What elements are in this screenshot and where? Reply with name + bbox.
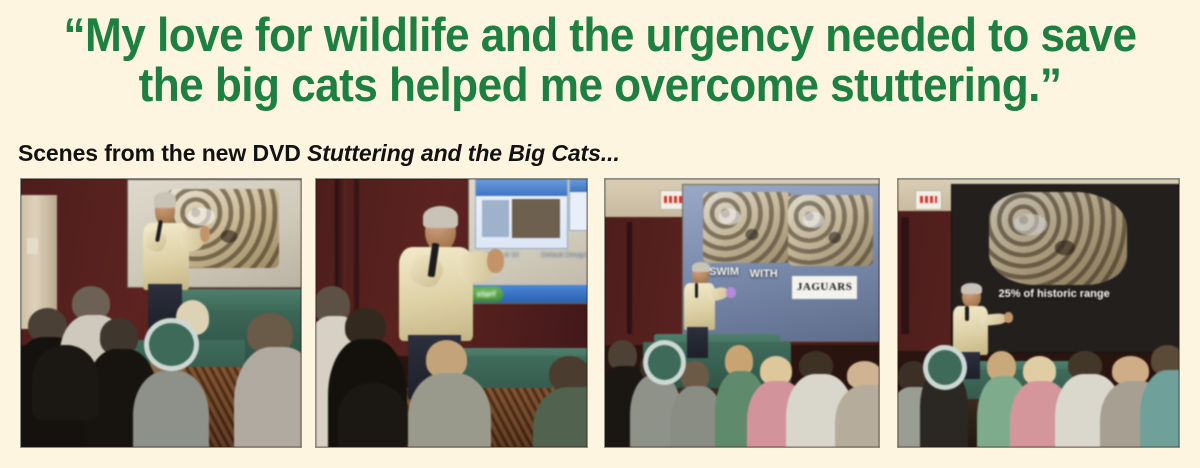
audience-body bbox=[1140, 370, 1179, 447]
photo-2[interactable]: Slide 11 of 33 Default Design start bbox=[315, 178, 588, 448]
speaker-hand-right bbox=[726, 287, 736, 299]
wall-fixture bbox=[27, 238, 38, 254]
photo-4-scene: 25% of historic range bbox=[898, 179, 1179, 447]
audience-member bbox=[408, 340, 489, 447]
audience-member bbox=[1140, 345, 1179, 447]
speaker-hand-right bbox=[200, 226, 210, 243]
exit-sign bbox=[915, 190, 942, 211]
audience-body bbox=[408, 373, 491, 447]
subtitle: Scenes from the new DVD Stuttering and t… bbox=[18, 140, 620, 166]
audience-body bbox=[533, 387, 587, 447]
page-title: “My love for wildlife and the urgency ne… bbox=[36, 10, 1164, 110]
subtitle-lead: Scenes from the new DVD bbox=[18, 140, 307, 166]
speaker-hand-right bbox=[487, 249, 504, 273]
speaker-hair bbox=[692, 262, 710, 272]
chair bbox=[32, 345, 99, 420]
photo-3-scene: SWIM WITH JAGUARS bbox=[605, 179, 879, 447]
chair-back bbox=[643, 340, 686, 385]
photo-4[interactable]: 25% of historic range bbox=[897, 178, 1180, 448]
slide-image-lion bbox=[989, 192, 1127, 285]
audience-member bbox=[533, 356, 587, 447]
speaker-legs bbox=[687, 327, 707, 358]
speaker-hair bbox=[961, 283, 981, 294]
slide-status-right: Default Design bbox=[541, 252, 587, 259]
audience-body bbox=[234, 347, 301, 447]
chair bbox=[338, 383, 408, 447]
photo-strip: Slide 11 of 33 Default Design start bbox=[0, 178, 1200, 450]
speaker-hand-right bbox=[1004, 312, 1013, 323]
slide-image-jaguar-right bbox=[788, 195, 873, 267]
wall-trim bbox=[627, 222, 632, 335]
headline-line-2: the big cats helped me overcome stutteri… bbox=[36, 60, 1164, 110]
audience-member bbox=[835, 361, 879, 447]
speaker bbox=[679, 265, 739, 356]
subtitle-dvd-title: Stuttering and the Big Cats... bbox=[307, 140, 620, 166]
slide-image-jaguar-left bbox=[703, 192, 792, 264]
photo-1[interactable] bbox=[20, 178, 302, 448]
speaker-hair bbox=[423, 206, 459, 229]
secondary-window bbox=[569, 179, 587, 231]
audience-member bbox=[234, 313, 301, 447]
microphone bbox=[965, 306, 969, 321]
photo-3[interactable]: SWIM WITH JAGUARS bbox=[604, 178, 880, 448]
slide-word-with: WITH bbox=[750, 268, 778, 280]
photo-2-scene: Slide 11 of 33 Default Design start bbox=[316, 179, 587, 447]
audience-body bbox=[133, 371, 209, 447]
slide-word-jaguars: JAGUARS bbox=[792, 276, 857, 299]
photo-1-scene bbox=[21, 179, 301, 447]
chair-back bbox=[923, 345, 967, 390]
headline-line-1: “My love for wildlife and the urgency ne… bbox=[36, 10, 1164, 60]
window-titlebar bbox=[476, 179, 567, 196]
window-titlebar bbox=[570, 179, 587, 192]
slide-preview bbox=[512, 199, 559, 238]
promo-banner: “My love for wildlife and the urgency ne… bbox=[0, 0, 1200, 468]
audience-head bbox=[549, 356, 587, 391]
chair-back bbox=[144, 318, 199, 371]
audience-body bbox=[835, 385, 879, 447]
wall-trim bbox=[901, 217, 909, 335]
microphone bbox=[695, 283, 699, 298]
speaker-hair bbox=[154, 192, 176, 207]
